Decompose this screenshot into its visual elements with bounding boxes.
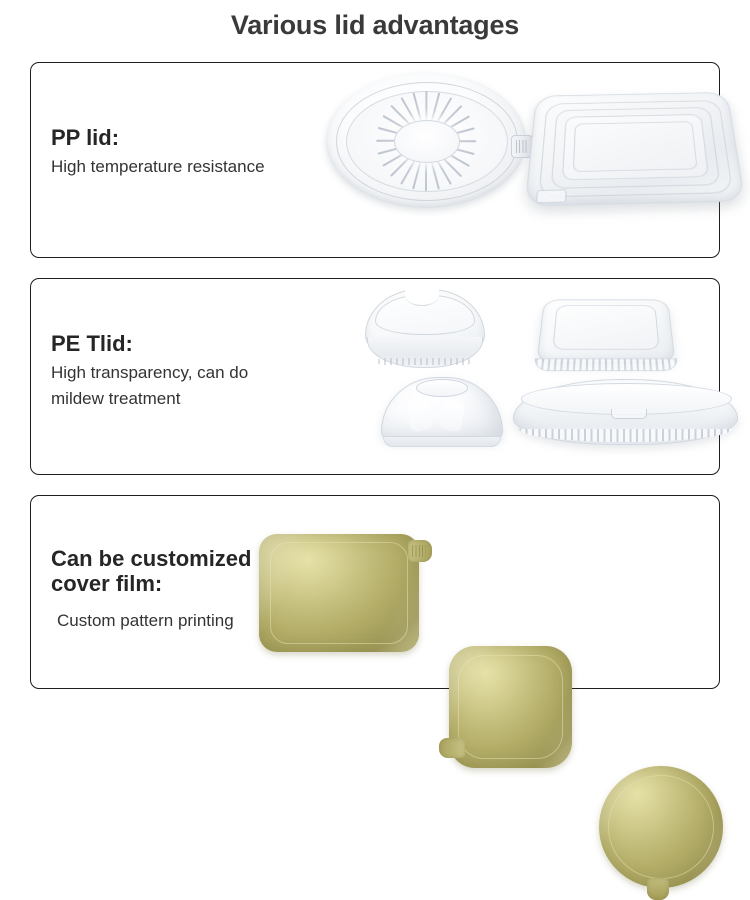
gold-rect-lid-pull-tab [408,540,432,562]
round-lid-rib [445,126,475,136]
dome-lid-highlight [439,399,466,432]
round-lid-rib [439,104,462,127]
round-lid-rib [412,160,422,190]
rect-lid-ridge [550,107,721,189]
card-custom-cover-film-heading: Can be customized cover film: [51,546,251,596]
dome-lid-top-recess [416,379,468,397]
dome-lid-highlight [407,399,434,432]
card-pp-lid: PP lid: High temperature resistance [30,62,720,258]
round-lid-center-hub [394,120,460,163]
round-lid-outer-rim [336,82,518,200]
dome-lid-base-ring [383,436,501,447]
round-lid-rib [412,92,422,122]
round-lid-disc [326,73,526,208]
round-lid-rib [376,139,406,141]
round-lid-rib [435,157,452,184]
rect-lid-body [525,92,746,206]
round-pp-lid-image [326,73,526,208]
square-lid-bottom-flange [533,358,678,371]
round-lid-rib [382,114,409,131]
round-lid-inner-rim [346,91,508,193]
round-lid-pull-tab [511,135,535,158]
card-custom-cover-film: Can be customized cover film: Custom pat… [30,495,720,689]
card-pe-tlid-subtext: High transparency, can do mildew treatme… [51,360,248,412]
round-lid-rib [446,139,476,141]
rect-lid-ridge [562,114,710,180]
round-gold-foil-lid-image [599,766,723,888]
round-lid-rib [390,104,413,127]
heart-lid-top-cleft [405,285,439,306]
round-lid-rib [443,149,470,166]
round-lid-rib [425,161,427,191]
oval-lid-notch [611,409,647,419]
card-custom-cover-film-text-block: Can be customized cover film: Custom pat… [51,546,251,634]
oval-flat-pe-lid-image [513,379,738,445]
gold-round-lid-pull-tab [647,878,669,900]
card-pe-tlid-heading: PE Tlid: [51,331,248,356]
rect-lid-ridge [539,100,733,198]
card-pp-lid-heading: PP lid: [51,125,265,150]
square-gold-foil-lid-image [449,646,572,768]
round-lid-rib [445,145,475,155]
dome-pe-lid-image [381,377,501,447]
round-lid-rib [390,154,413,177]
square-pe-lid-image [531,298,681,373]
heart-lid-body [365,289,485,365]
oval-lid-top-panel [521,383,732,415]
round-lid-rib [425,91,427,121]
page-title: Various lid advantages [0,10,750,41]
card-pp-lid-text-block: PP lid: High temperature resistance [51,125,265,180]
oval-lid-ribbed-rim [519,429,732,442]
dome-lid-body [381,377,503,441]
round-lid-rib [430,160,440,190]
round-lid-rib [400,97,417,124]
round-lid-rib [439,154,462,177]
round-lid-rib [443,114,470,131]
heart-shaped-pe-lid-image [359,287,494,379]
round-lid-rib [400,157,417,184]
round-lid-rib [382,149,409,166]
oval-lid-body [513,379,738,445]
round-lid-rib [430,92,440,122]
round-lid-rib [377,126,407,136]
card-pp-lid-subtext: High temperature resistance [51,154,265,180]
round-lid-rib [377,145,407,155]
card-pe-tlid: PE Tlid: High transparency, can do milde… [30,278,720,475]
rectangular-gold-foil-lid-image [259,534,419,652]
rect-lid-corner-notch [536,190,567,204]
rect-lid-ridge [573,121,698,171]
gold-square-lid-pull-tab [439,738,465,758]
rectangular-pp-lid-image [525,92,746,206]
square-lid-top-panel [552,305,659,349]
card-custom-cover-film-subtext: Custom pattern printing [51,608,251,634]
heart-lid-base-flange [367,337,483,368]
heart-lid-top-panel [375,295,475,335]
square-lid-body [536,300,675,364]
round-lid-rib [435,97,452,124]
card-pe-tlid-text-block: PE Tlid: High transparency, can do milde… [51,331,248,412]
